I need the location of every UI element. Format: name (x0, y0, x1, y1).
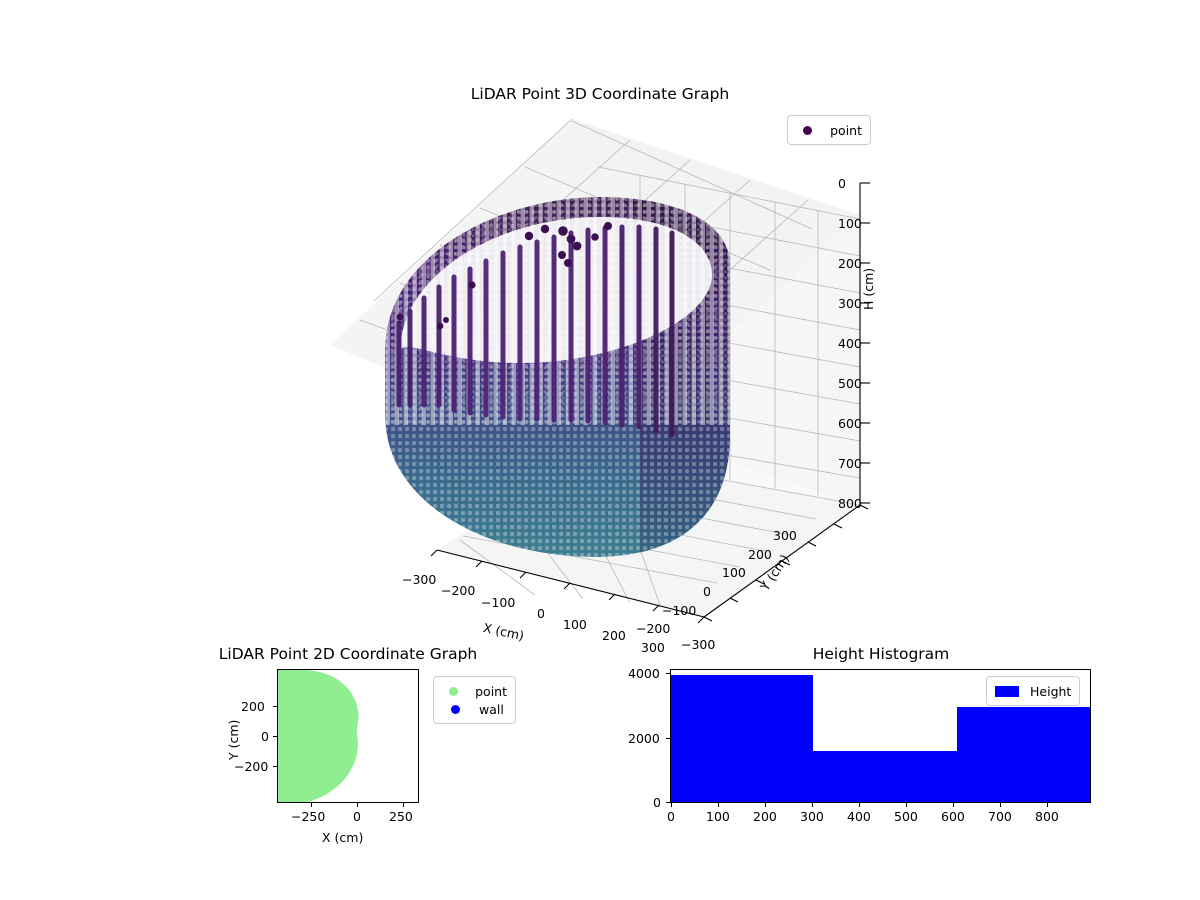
histogram-xtick-2: 200 (753, 809, 777, 824)
figure-canvas: LiDAR Point 3D Coordinate Graph (0, 0, 1200, 900)
histogram-xtick-mark-6 (953, 803, 954, 807)
plot-2d-xtick-mark-0 (311, 803, 312, 807)
point-marker-icon (796, 126, 819, 135)
histogram-legend[interactable]: Height (986, 676, 1080, 706)
histogram-ytick-0: 0 (653, 795, 661, 810)
histogram-xtick-3: 300 (800, 809, 824, 824)
legend-row-point-2d: point (442, 682, 507, 700)
histogram-xtick-mark-2 (765, 803, 766, 807)
plot-3d-xtick-4: 100 (563, 617, 587, 632)
histogram-ytick-mark-1 (666, 738, 670, 739)
histogram-ytick-1: 2000 (628, 731, 660, 746)
point-marker-icon (442, 687, 464, 696)
legend-label-point-2d: point (475, 684, 507, 699)
histogram-bar-0 (671, 675, 813, 802)
histogram-xtick-mark-0 (671, 803, 672, 807)
histogram-xtick-0: 0 (667, 809, 675, 824)
plot-3d-ztick-1: 100 (838, 216, 862, 231)
plot-2d-ytick-mark-1 (273, 736, 277, 737)
plot-2d-legend[interactable]: point wall (433, 676, 516, 724)
plot-2d-xtick-2: 250 (389, 809, 413, 824)
plot-2d-ytick-1: 0 (261, 729, 269, 744)
plot-3d-legend[interactable]: point (787, 115, 871, 145)
plot-3d-ytick-3: 0 (703, 584, 711, 599)
plot-3d-ytick-6: −300 (681, 637, 715, 652)
plot-3d-axes[interactable] (300, 105, 900, 650)
plot-2d-xtick-0: −250 (291, 809, 325, 824)
histogram-ytick-mark-0 (666, 802, 670, 803)
plot-2d-xtick-mark-2 (403, 803, 404, 807)
plot-3d-ytick-4: −100 (662, 603, 696, 618)
plot-3d-zlabel: H (cm) (861, 268, 876, 310)
histogram-xtick-mark-5 (906, 803, 907, 807)
plot-3d-xtick-2: −100 (481, 595, 515, 610)
height-patch-icon (995, 686, 1019, 697)
histogram-xtick-1: 100 (706, 809, 730, 824)
legend-row-wall-2d: wall (442, 700, 507, 718)
histogram-xtick-7: 700 (988, 809, 1012, 824)
histogram-xtick-mark-3 (812, 803, 813, 807)
legend-row-point: point (796, 121, 862, 139)
plot-3d-xtick-6: 300 (641, 640, 665, 655)
legend-label-point: point (830, 123, 862, 138)
plot-3d-ztick-0: 0 (838, 176, 846, 191)
plot-2d-ytick-mark-2 (273, 766, 277, 767)
histogram-bar-1 (813, 751, 957, 802)
plot-2d-xtick-1: 0 (353, 809, 361, 824)
plot-3d-ytick-1: 200 (748, 547, 772, 562)
plot-3d-ytick-5: −200 (636, 621, 670, 636)
plot-2d-ytick-mark-0 (273, 706, 277, 707)
legend-label-height: Height (1030, 684, 1071, 699)
histogram-xtick-5: 500 (894, 809, 918, 824)
histogram-title: Height Histogram (731, 645, 1031, 663)
plot-3d-ztick-6: 600 (838, 416, 862, 431)
plot-2d-ytick-0: 200 (241, 699, 265, 714)
plot-3d-ztick-8: 800 (838, 496, 862, 511)
plot-3d-xtick-0: −300 (402, 572, 436, 587)
plot-2d-point-region (278, 670, 419, 803)
wall-marker-icon (442, 705, 468, 714)
plot-2d-ylabel: Y (cm) (226, 720, 241, 760)
plot-3d-title: LiDAR Point 3D Coordinate Graph (400, 85, 800, 103)
plot-2d-xlabel: X (cm) (322, 830, 363, 845)
histogram-xtick-mark-1 (718, 803, 719, 807)
plot-2d-xtick-mark-1 (357, 803, 358, 807)
plot-2d-title: LiDAR Point 2D Coordinate Graph (158, 645, 538, 663)
legend-row-height: Height (995, 682, 1071, 700)
plot-3d-xtick-5: 200 (602, 628, 626, 643)
plot-3d-xtick-1: −200 (441, 583, 475, 598)
histogram-xtick-4: 400 (847, 809, 871, 824)
histogram-xtick-mark-7 (1000, 803, 1001, 807)
histogram-ytick-mark-2 (666, 673, 670, 674)
plot-3d-ztick-7: 700 (838, 456, 862, 471)
plot-3d-ztick-2: 200 (838, 256, 862, 271)
plot-2d-axes[interactable] (277, 669, 419, 803)
legend-label-wall-2d: wall (479, 702, 504, 717)
histogram-xtick-mark-4 (859, 803, 860, 807)
plot-3d-ztick-4: 400 (838, 336, 862, 351)
plot-3d-xtick-3: 0 (537, 606, 545, 621)
plot-2d-ytick-2: −200 (234, 759, 268, 774)
histogram-xtick-6: 600 (941, 809, 965, 824)
plot-3d-ztick-3: 300 (838, 296, 862, 311)
histogram-bar-2 (957, 707, 1091, 802)
plot-3d-ztick-5: 500 (838, 376, 862, 391)
histogram-xtick-8: 800 (1035, 809, 1059, 824)
histogram-xtick-mark-8 (1047, 803, 1048, 807)
plot-3d-ytick-0: 300 (773, 528, 797, 543)
plot-3d-ytick-2: 100 (722, 565, 746, 580)
histogram-ytick-2: 4000 (628, 666, 660, 681)
